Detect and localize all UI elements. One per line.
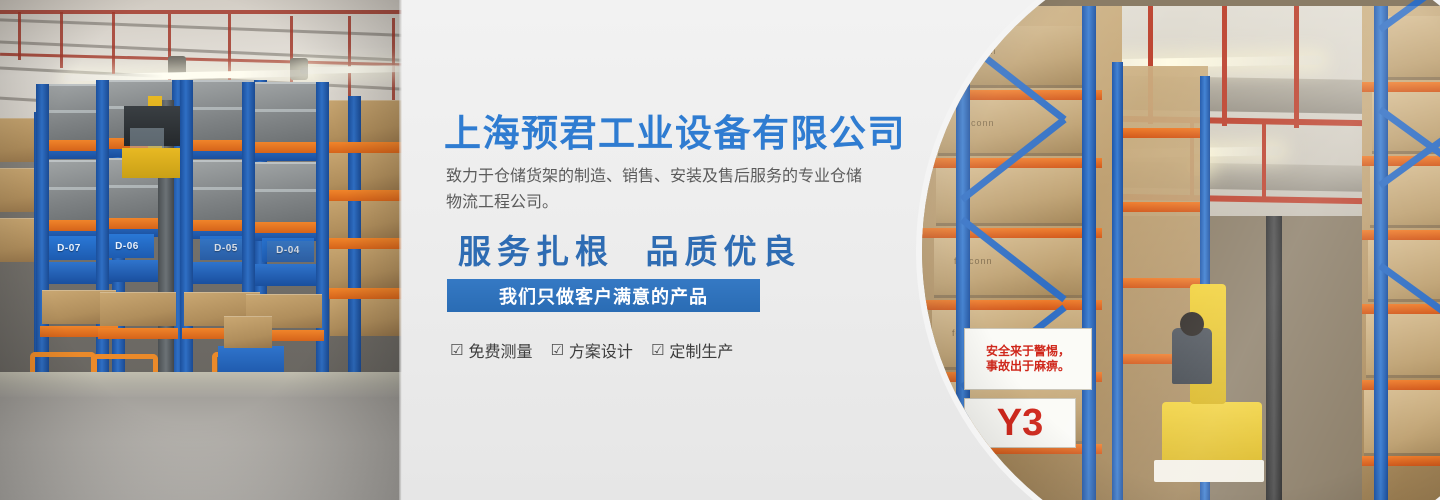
photo-vignette (0, 0, 402, 500)
banner-text-block: 上海预君工业设备有限公司 致力于仓储货架的制造、销售、安装及售后服务的专业仓储物… (444, 0, 914, 500)
cta-button[interactable]: 我们只做客户满意的产品 (447, 279, 760, 312)
feature-label: 方案设计 (569, 338, 633, 362)
page-title: 上海预君工业设备有限公司 (444, 103, 906, 157)
company-subtitle: 致力于仓储货架的制造、销售、安装及售后服务的专业仓储物流工程公司。 (446, 163, 866, 215)
slogan-part-1: 服务扎根 (458, 232, 614, 271)
slogan-part-2: 品质优良 (646, 232, 802, 271)
hero-banner: D-07 D-06 D-05 (0, 0, 1440, 500)
photo-right-fade (399, 0, 402, 500)
feature-label: 免费测量 (468, 338, 532, 362)
checkbox-checked-icon: ☑ (651, 343, 664, 358)
feature-item-plan-design: ☑ 方案设计 (550, 338, 632, 362)
checkbox-checked-icon: ☑ (450, 343, 463, 358)
feature-item-custom-production: ☑ 定制生产 (651, 338, 733, 362)
right-warehouse-photo-circle: foxconn foxconn foxconn foxconn (916, 0, 1440, 500)
photo-vignette (922, 0, 1440, 500)
slogan: 服务扎根 品质优良 (458, 225, 802, 273)
checkbox-checked-icon: ☑ (550, 343, 563, 358)
feature-item-free-measure: ☑ 免费测量 (450, 338, 532, 362)
left-warehouse-photo: D-07 D-06 D-05 (0, 0, 402, 500)
right-warehouse-photo: foxconn foxconn foxconn foxconn (922, 0, 1440, 500)
feature-list: ☑ 免费测量 ☑ 方案设计 ☑ 定制生产 (450, 338, 733, 362)
feature-label: 定制生产 (669, 338, 733, 362)
